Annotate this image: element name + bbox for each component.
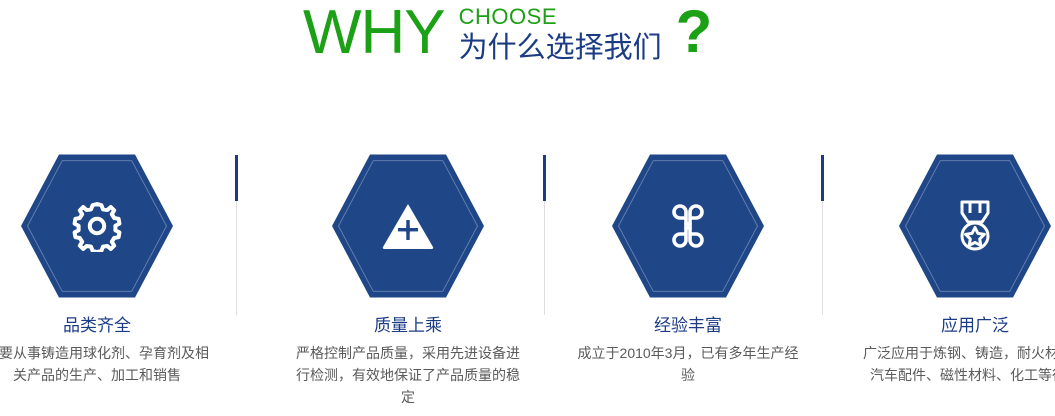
headline-question-mark: ? bbox=[676, 2, 713, 74]
feature-columns: 品类齐全 主要从事铸造用球化剂、孕育剂及相关产品的生产、加工和销售 bbox=[0, 144, 1055, 416]
hexagon-badge-1 bbox=[332, 150, 484, 302]
headline-why: WHY bbox=[303, 2, 445, 64]
divider-accent bbox=[543, 155, 546, 201]
card-body: 严格控制产品质量，采用先进设备进行检测，有效地保证了产品质量的稳定 bbox=[292, 342, 524, 408]
hexagon-badge-0 bbox=[21, 150, 173, 302]
four-petal-clover-icon bbox=[612, 150, 764, 302]
header-title-group: WHY CHOOSE 为什么选择我们 ? bbox=[303, 2, 712, 74]
feature-card-1[interactable]: 质量上乘 严格控制产品质量，采用先进设备进行检测，有效地保证了产品质量的稳定 bbox=[275, 144, 541, 408]
divider-accent bbox=[821, 155, 824, 201]
card-body: 主要从事铸造用球化剂、孕育剂及相关产品的生产、加工和销售 bbox=[0, 342, 213, 386]
feature-card-3[interactable]: 应用广泛 广泛应用于炼钢、铸造，耐火材料、汽车配件、磁性材料、化工等行业 bbox=[842, 144, 1055, 386]
hexagon-badge-3 bbox=[899, 150, 1051, 302]
divider-accent bbox=[235, 155, 238, 201]
card-body: 成立于2010年3月，已有多年生产经验 bbox=[572, 342, 804, 386]
card-title: 应用广泛 bbox=[941, 316, 1009, 336]
medal-star-icon bbox=[899, 150, 1051, 302]
column-divider-0 bbox=[235, 155, 238, 315]
card-title: 经验丰富 bbox=[654, 316, 722, 336]
column-divider-1 bbox=[543, 155, 546, 315]
column-divider-2 bbox=[821, 155, 824, 315]
headline-mid-block: CHOOSE 为什么选择我们 bbox=[459, 2, 662, 65]
section-header: WHY CHOOSE 为什么选择我们 ? bbox=[0, 0, 1055, 96]
feature-card-2[interactable]: 经验丰富 成立于2010年3月，已有多年生产经验 bbox=[555, 144, 821, 386]
hexagon-badge-2 bbox=[612, 150, 764, 302]
headline-choose: CHOOSE bbox=[459, 5, 662, 29]
divider-line bbox=[822, 201, 823, 315]
feature-card-0[interactable]: 品类齐全 主要从事铸造用球化剂、孕育剂及相关产品的生产、加工和销售 bbox=[0, 144, 230, 386]
divider-line bbox=[236, 201, 237, 315]
headline-chinese-subtitle: 为什么选择我们 bbox=[459, 31, 662, 65]
gear-icon bbox=[21, 150, 173, 302]
divider-line bbox=[544, 201, 545, 315]
triangle-plus-icon bbox=[332, 150, 484, 302]
card-title: 质量上乘 bbox=[374, 316, 442, 336]
card-body: 广泛应用于炼钢、铸造，耐火材料、汽车配件、磁性材料、化工等行业 bbox=[859, 342, 1055, 386]
card-title: 品类齐全 bbox=[63, 316, 131, 336]
